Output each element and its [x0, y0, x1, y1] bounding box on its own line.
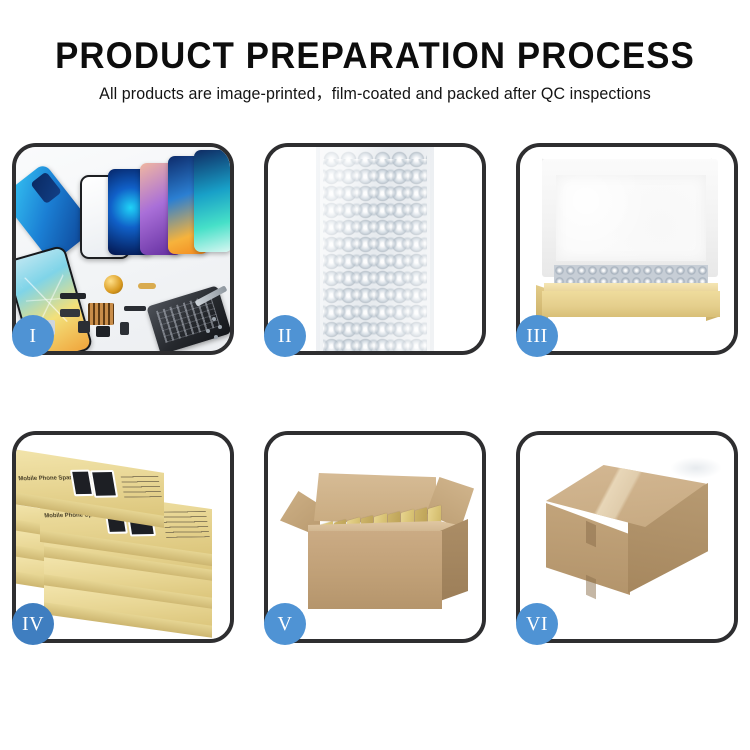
page-subtitle: All products are image-printed，film-coat…: [11, 76, 739, 104]
speaker-module: [104, 275, 123, 294]
panel-step-2: II: [264, 143, 486, 355]
stacked-box-labeled: Mobile Phone Spare Parts: [16, 449, 164, 517]
small-component: [120, 322, 129, 335]
phone-screen-teal: [194, 150, 230, 252]
box-product-photo: [90, 470, 118, 498]
carton-seam: [586, 521, 596, 547]
panel-step-6: VI: [516, 431, 738, 643]
screw-icon: [214, 335, 218, 339]
process-steps-grid: I II: [12, 143, 738, 683]
step-badge-3: III: [516, 315, 558, 357]
vibration-motor: [96, 326, 110, 337]
panel-5-image: [268, 435, 482, 639]
step-numeral: I: [29, 326, 36, 346]
screw-icon: [212, 317, 216, 321]
step-badge-5: V: [264, 603, 306, 645]
panel-1-image: [16, 147, 230, 351]
step-numeral: V: [278, 614, 293, 634]
product-preparation-infographic: PRODUCT PREPARATION PROCESS All products…: [0, 0, 750, 750]
panel-2-image: [268, 147, 482, 351]
earpiece-mesh: [60, 293, 86, 299]
step-numeral: VI: [526, 614, 548, 634]
panel-step-4: Mobile Phone Spare Parts Mobile Phone Sp…: [12, 431, 234, 643]
plastic-gloss: [320, 147, 430, 351]
header: PRODUCT PREPARATION PROCESS All products…: [0, 0, 750, 104]
screw-icon: [206, 329, 210, 333]
box-stack: Mobile Phone Spare Parts Mobile Phone Sp…: [16, 435, 230, 639]
page-title: PRODUCT PREPARATION PROCESS: [23, 0, 728, 76]
panel-4-image: Mobile Phone Spare Parts Mobile Phone Sp…: [16, 435, 230, 639]
carton-highlight: [670, 457, 722, 479]
box-spec-lines: [120, 473, 162, 498]
camera-module: [78, 321, 90, 333]
flex-cable-dark: [124, 306, 146, 311]
step-badge-1: I: [12, 315, 54, 357]
connector-part: [60, 309, 80, 317]
step-badge-6: VI: [516, 603, 558, 645]
panel-step-5: V: [264, 431, 486, 643]
white-foam-padding: [556, 175, 706, 261]
panel-6-image: [520, 435, 734, 639]
step-numeral: III: [526, 326, 547, 346]
flex-cable-gold: [138, 283, 156, 289]
step-numeral: II: [278, 326, 292, 346]
carton-front-panel: [308, 531, 442, 609]
kraft-box-front: [542, 291, 720, 317]
carton-seam: [586, 575, 596, 599]
chip-grid: [88, 303, 114, 325]
panel-step-3: III: [516, 143, 738, 355]
panel-3-image: [520, 147, 734, 351]
panel-step-1: I: [12, 143, 234, 355]
step-numeral: IV: [22, 614, 44, 634]
step-badge-4: IV: [12, 603, 54, 645]
box-spec-lines: [162, 511, 210, 538]
step-badge-2: II: [264, 315, 306, 357]
carton-side-panel: [440, 519, 468, 601]
screw-icon: [218, 325, 222, 329]
